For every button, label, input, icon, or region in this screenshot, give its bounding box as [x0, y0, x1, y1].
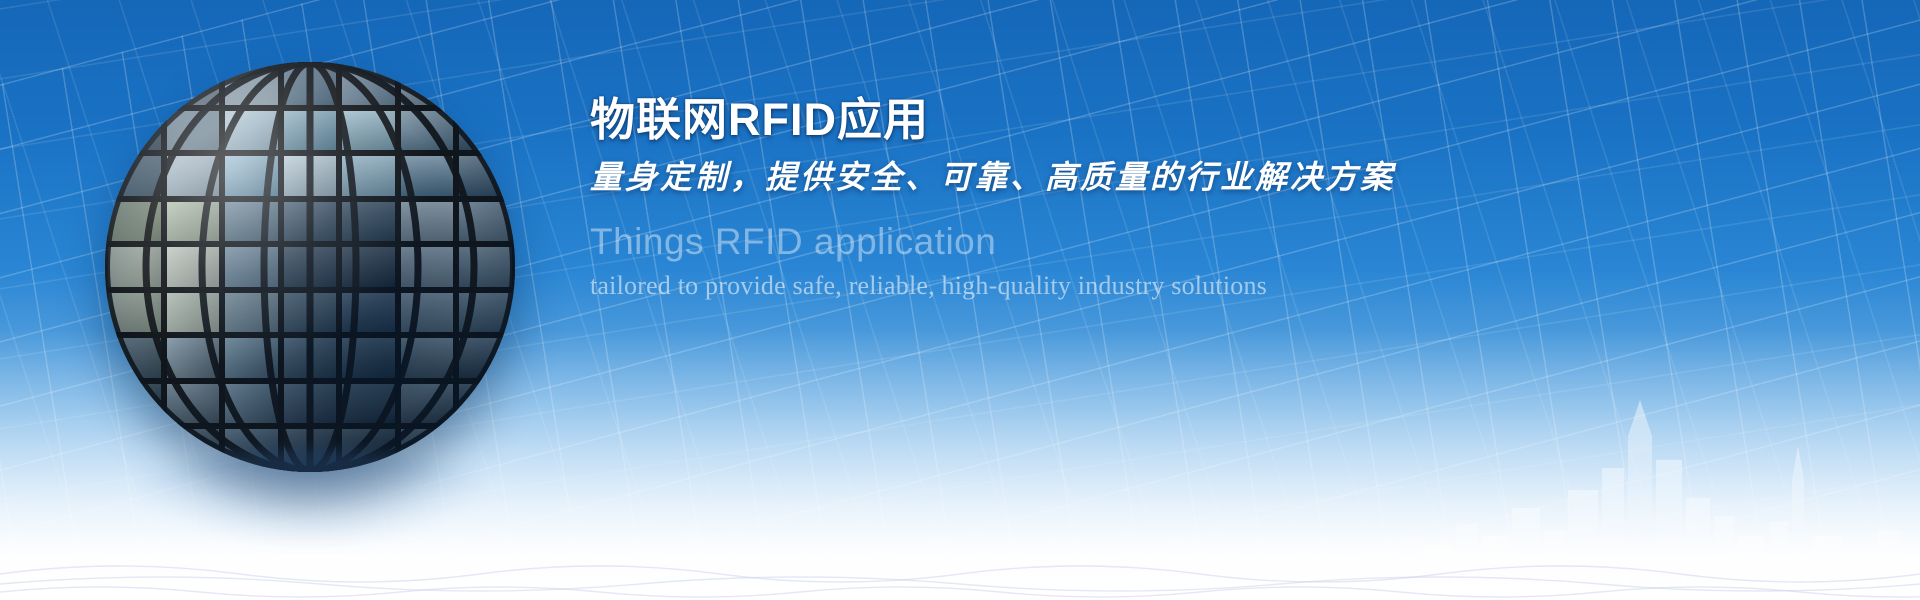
globe-mosaic-tile	[222, 108, 281, 154]
banner-subtitle-en: tailored to provide safe, reliable, high…	[590, 272, 1880, 301]
globe-mosaic-tile	[456, 108, 515, 154]
globe-mosaic-tile	[281, 62, 340, 108]
globe-mosaic-tile	[105, 244, 164, 290]
globe-mosaic-tile	[281, 199, 340, 245]
globe-mosaic-tile	[105, 426, 164, 472]
globe-mosaic-tile	[164, 153, 223, 199]
globe-mosaic-graphic	[105, 62, 515, 472]
globe-mosaic-tile	[105, 108, 164, 154]
globe-mosaic-tile	[398, 290, 457, 336]
globe-sphere	[105, 62, 515, 472]
globe-mosaic-tile	[164, 108, 223, 154]
globe-mosaic-tile	[339, 335, 398, 381]
globe-mosaic-tile	[456, 244, 515, 290]
globe-mosaic-row	[105, 153, 515, 199]
globe-mosaic-tile	[339, 244, 398, 290]
globe-mosaic-tile	[222, 335, 281, 381]
globe-mosaic-tile	[105, 381, 164, 427]
globe-mosaic-tile	[456, 62, 515, 108]
globe-mosaic-tile	[456, 335, 515, 381]
globe-mosaic-tile	[164, 244, 223, 290]
globe-mosaic-row	[105, 335, 515, 381]
banner-copy: 物联网RFID应用 量身定制，提供安全、可靠、高质量的行业解决方案 Things…	[590, 96, 1880, 301]
globe-mosaic-tile	[456, 381, 515, 427]
globe-mosaic-tile	[164, 290, 223, 336]
globe-mosaic-tile	[281, 290, 340, 336]
globe-mosaic-tile	[164, 335, 223, 381]
globe-mosaic-tile	[164, 426, 223, 472]
globe-mosaic-row	[105, 108, 515, 154]
city-skyline-graphic	[1360, 340, 1920, 600]
globe-mosaic-tile	[281, 381, 340, 427]
horizon-haze	[0, 530, 1920, 600]
globe-mosaic-tile	[281, 108, 340, 154]
banner-subtitle-cn: 量身定制，提供安全、可靠、高质量的行业解决方案	[590, 160, 1880, 196]
globe-mosaic-tile	[398, 199, 457, 245]
globe-mosaic-tile	[281, 426, 340, 472]
globe-mosaic-tile	[456, 153, 515, 199]
globe-mosaic-tile	[456, 290, 515, 336]
globe-mosaic-tile	[339, 290, 398, 336]
globe-mosaic-tile	[105, 335, 164, 381]
globe-mosaic-tile	[105, 199, 164, 245]
globe-mosaic-tile	[164, 381, 223, 427]
globe-mosaic-tile	[105, 290, 164, 336]
globe-mosaic-row	[105, 381, 515, 427]
globe-mosaic-row	[105, 426, 515, 472]
globe-mosaic-row	[105, 199, 515, 245]
globe-mosaic-tile	[164, 62, 223, 108]
globe-mosaic-tile	[281, 153, 340, 199]
globe-mosaic-tile	[222, 381, 281, 427]
globe-mosaic-tile	[339, 381, 398, 427]
globe-mosaic-tile	[398, 108, 457, 154]
water-ripple-lines	[0, 540, 1920, 600]
globe-mosaic-tile	[398, 153, 457, 199]
globe-mosaic-tile	[456, 199, 515, 245]
globe-mosaic-tile	[105, 62, 164, 108]
globe-mosaic-row	[105, 62, 515, 108]
globe-mosaic-tile	[339, 62, 398, 108]
globe-mosaic-tile	[339, 108, 398, 154]
globe-mosaic-tile	[398, 426, 457, 472]
globe-mosaic-tile	[105, 153, 164, 199]
globe-mosaic-tile	[222, 244, 281, 290]
globe-mosaic-tile	[222, 426, 281, 472]
globe-mosaic-tile	[222, 153, 281, 199]
globe-mosaic-tile	[398, 381, 457, 427]
globe-mosaic-tile	[339, 199, 398, 245]
globe-photo-mosaic	[105, 62, 515, 472]
globe-mosaic-tile	[222, 290, 281, 336]
globe-mosaic-tile	[398, 244, 457, 290]
globe-mosaic-tile	[281, 244, 340, 290]
iot-rfid-banner: 物联网RFID应用 量身定制，提供安全、可靠、高质量的行业解决方案 Things…	[0, 0, 1920, 600]
globe-mosaic-row	[105, 290, 515, 336]
banner-title-cn: 物联网RFID应用	[590, 96, 1880, 144]
banner-title-en: Things RFID application	[590, 222, 1880, 263]
globe-mosaic-tile	[222, 199, 281, 245]
globe-mosaic-tile	[339, 153, 398, 199]
globe-mosaic-tile	[398, 62, 457, 108]
globe-mosaic-tile	[398, 335, 457, 381]
globe-mosaic-tile	[339, 426, 398, 472]
globe-mosaic-tile	[456, 426, 515, 472]
globe-mosaic-tile	[222, 62, 281, 108]
globe-mosaic-tile	[164, 199, 223, 245]
globe-mosaic-tile	[281, 335, 340, 381]
globe-mosaic-row	[105, 244, 515, 290]
